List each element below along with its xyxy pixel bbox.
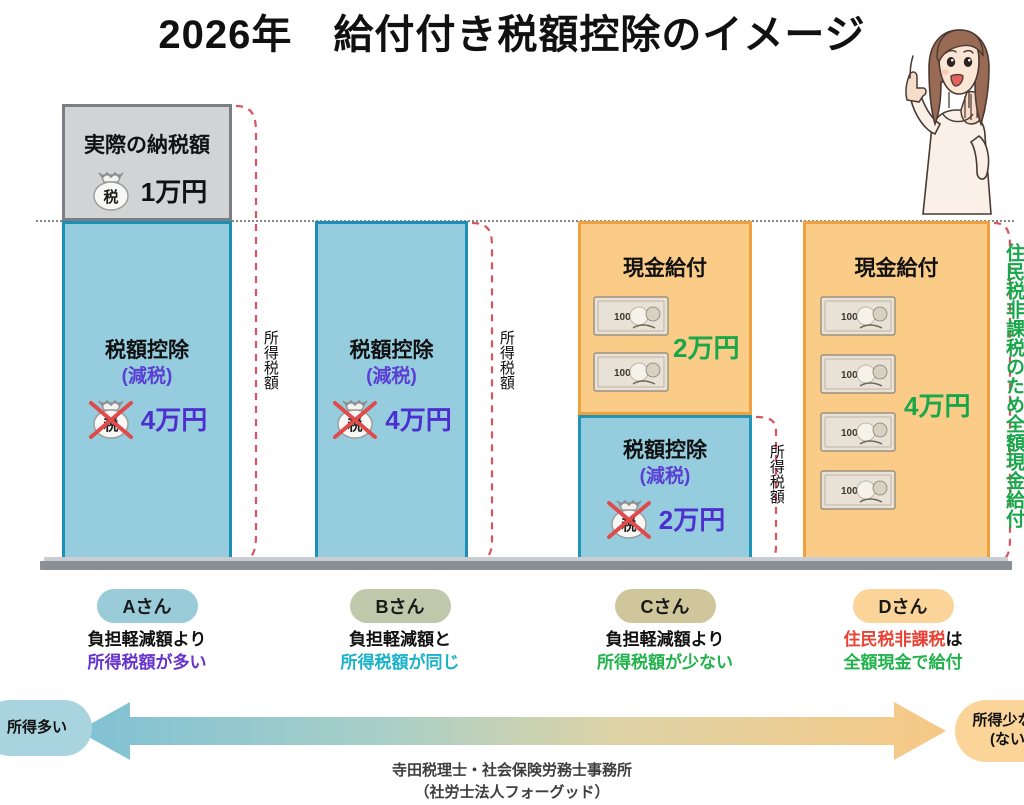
person-caption-b-line2: 所得税額が同じ <box>310 652 490 675</box>
segment-a-tax-paid: 実際の納税額 税 1万円 <box>62 104 232 221</box>
person-caption-d-line1a: 住民税非課税 <box>844 630 946 649</box>
income-low-label-line1: 所得少ない <box>972 712 1024 731</box>
segment-c-cash: 現金給付 10000 10000 <box>578 221 752 415</box>
banknote-icon: 10000 <box>820 296 896 336</box>
segment-c-deduction-amount-row: 税 2万円 <box>581 497 749 539</box>
bracket-d-label: 住民税非課税のため全額現金給付 <box>1004 243 1023 528</box>
person-caption-c: 負担軽減額より 所得税額が少ない <box>570 629 760 675</box>
person-label-a: Aさん 負担軽減額より 所得税額が多い <box>57 589 237 675</box>
banknote-icon: 10000 <box>820 412 896 452</box>
banknote-icon: 10000 <box>820 354 896 394</box>
segment-c-notes: 10000 10000 <box>593 296 669 392</box>
bracket-a-label: 所得税額 <box>262 330 278 390</box>
segment-b-deduction-title: 税額控除 <box>318 334 465 364</box>
income-scale-arrow <box>78 700 946 762</box>
bracket-c-label: 所得税額 <box>768 444 784 504</box>
person-caption-d-line1b: は <box>946 630 963 649</box>
person-caption-d: 住民税非課税は 全額現金で給付 <box>808 629 998 675</box>
segment-a-tax-paid-title: 実際の納税額 <box>65 129 229 159</box>
segment-a-tax-paid-amount-row: 税 1万円 <box>65 169 229 211</box>
person-pill-d: Dさん <box>853 589 954 623</box>
person-caption-c-line1: 負担軽減額より <box>606 630 725 649</box>
banknote-icon: 10000 <box>593 296 669 336</box>
baseline <box>40 561 1012 570</box>
segment-a-deduction-amount-row: 税 4万円 <box>65 397 229 439</box>
person-pill-c: Cさん <box>615 589 716 623</box>
segment-b-deduction-amount: 4万円 <box>385 400 451 437</box>
segment-c-deduction-title: 税額控除 <box>581 434 749 464</box>
segment-a-deduction: 税額控除 (減税) 税 4万円 <box>62 221 232 564</box>
segment-c-cash-title: 現金給付 <box>581 252 749 282</box>
person-caption-a: 負担軽減額より 所得税額が多い <box>57 629 237 675</box>
person-label-c: Cさん 負担軽減額より 所得税額が少ない <box>570 589 760 675</box>
person-caption-b-line1: 負担軽減額と <box>349 630 451 649</box>
bar-c: 現金給付 10000 10000 <box>578 221 752 564</box>
svg-text:税: 税 <box>103 188 118 206</box>
tax-bag-crossed-icon: 税 <box>605 497 653 539</box>
segment-a-deduction-sub: (減税) <box>65 361 229 388</box>
banknote-icon: 10000 <box>593 352 669 392</box>
bar-a: 実際の納税額 税 1万円 税額控除 (減税) <box>62 104 232 564</box>
segment-b-deduction-sub: (減税) <box>318 361 465 388</box>
person-caption-b: 負担軽減額と 所得税額が同じ <box>310 629 490 675</box>
tax-bag-icon: 税 <box>87 169 135 211</box>
bracket-b-label: 所得税額 <box>498 330 514 390</box>
segment-c-cash-amount: 2万円 <box>673 328 739 365</box>
person-caption-d-line2: 全額現金で給付 <box>808 652 998 675</box>
tax-bag-crossed-icon: 税 <box>87 397 135 439</box>
woman-illustration <box>893 18 1021 218</box>
bar-b: 税額控除 (減税) 税 4万円 <box>315 221 468 564</box>
person-caption-a-line2: 所得税額が多い <box>57 652 237 675</box>
income-high-pill: 所得多い <box>0 700 92 756</box>
segment-a-tax-paid-amount: 1万円 <box>141 172 207 209</box>
person-label-d: Dさん 住民税非課税は 全額現金で給付 <box>808 589 998 675</box>
footer-line-1: 寺田税理士・社会保険労務士事務所 <box>0 760 1024 782</box>
banknote-icon: 10000 <box>820 470 896 510</box>
person-label-b: Bさん 負担軽減額と 所得税額が同じ <box>310 589 490 675</box>
segment-d-cash-title: 現金給付 <box>806 252 987 282</box>
segment-c-deduction-sub: (減税) <box>581 461 749 488</box>
tax-bag-crossed-icon: 税 <box>331 397 379 439</box>
segment-d-notes: 10000 10000 <box>820 296 896 510</box>
footer-line-2: （社労士法人フォーグッド） <box>0 782 1024 804</box>
segment-a-deduction-title: 税額控除 <box>65 334 229 364</box>
segment-b-deduction-amount-row: 税 4万円 <box>318 397 465 439</box>
income-low-label-line2: (ない) <box>972 731 1024 750</box>
segment-d-cash: 現金給付 10000 10000 <box>803 221 990 564</box>
footer-credit: 寺田税理士・社会保険労務士事務所 （社労士法人フォーグッド） <box>0 760 1024 804</box>
segment-d-cash-amount: 4万円 <box>904 386 970 423</box>
segment-a-deduction-amount: 4万円 <box>141 400 207 437</box>
segment-b-deduction: 税額控除 (減税) 税 4万円 <box>315 221 468 564</box>
person-pill-a: Aさん <box>97 589 198 623</box>
person-caption-a-line1: 負担軽減額より <box>88 630 207 649</box>
segment-c-deduction-amount: 2万円 <box>659 500 725 537</box>
segment-c-deduction: 税額控除 (減税) 税 2万円 <box>578 415 752 564</box>
bracket-b <box>470 221 504 564</box>
income-high-label: 所得多い <box>7 719 67 738</box>
infographic-canvas: 2026年 給付付き税額控除のイメージ <box>0 0 1024 805</box>
person-caption-c-line2: 所得税額が少ない <box>570 652 760 675</box>
income-low-pill: 所得少ない (ない) <box>955 700 1024 762</box>
bar-d: 現金給付 10000 10000 <box>803 221 990 564</box>
page-title: 2026年 給付付き税額控除のイメージ <box>0 2 1024 60</box>
person-pill-b: Bさん <box>350 589 451 623</box>
